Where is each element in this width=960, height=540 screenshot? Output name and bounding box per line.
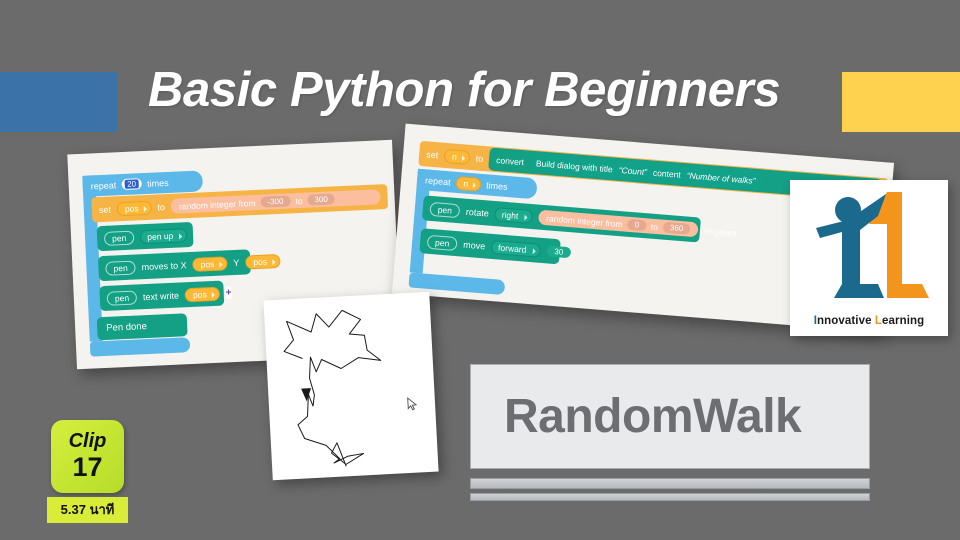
variable-dropdown-n[interactable]: n xyxy=(444,148,471,164)
random-max-input[interactable]: 360 xyxy=(663,222,691,235)
clip-duration-label: 5.37 นาที xyxy=(47,497,128,523)
dialog-title-value[interactable]: “Count” xyxy=(618,164,647,176)
pen-move-to-block[interactable]: pen moves to X pos Y pos xyxy=(98,249,251,281)
random-walk-drawing xyxy=(263,292,438,480)
random-integer-block[interactable]: random integer from -300 to 300 xyxy=(171,189,381,213)
accent-bar-right xyxy=(842,72,960,132)
pen-move-forward-block[interactable]: pen move forward 30 xyxy=(419,228,561,264)
pen-text-write-block[interactable]: pen text write pos + xyxy=(99,281,224,312)
variable-dropdown-pos[interactable]: pos xyxy=(117,200,152,216)
project-name-box: RandomWalk xyxy=(470,364,870,469)
dialog-content-value[interactable]: “Number of walks” xyxy=(686,170,756,185)
degrees-label: degrees xyxy=(704,225,737,238)
page-title: Basic Python for Beginners xyxy=(148,62,838,118)
dialog-content-label: content xyxy=(653,167,682,179)
repeat-label: repeat xyxy=(91,180,117,191)
random-to-label: to xyxy=(295,195,303,205)
pen-prefix-label: pen xyxy=(429,201,460,217)
pen-action-dropdown-pen-up[interactable]: pen up xyxy=(140,228,188,244)
project-name-label: RandomWalk xyxy=(504,389,801,444)
times-label: times xyxy=(147,177,169,188)
moves-to-x-label: moves to X xyxy=(141,260,186,272)
convert-label: convert xyxy=(496,155,525,167)
random-to-label: to xyxy=(651,221,659,232)
clip-number-label: 17 xyxy=(72,453,102,481)
pen-prefix-label: pen xyxy=(427,234,458,250)
set-label: set xyxy=(99,204,111,215)
text-write-label: text write xyxy=(143,290,179,302)
slide-canvas: Basic Python for Beginners repeat 20 tim… xyxy=(0,0,960,540)
build-dialog-label: Build dialog with title xyxy=(536,158,614,174)
y-axis-label: Y xyxy=(233,257,239,267)
pen-prefix-label: pen xyxy=(107,290,138,305)
pen-done-block[interactable]: Pen done xyxy=(97,313,188,340)
rotate-label: rotate xyxy=(466,206,490,218)
logo-caption: Innovative Learning xyxy=(790,315,948,327)
repeat-count-variable-n[interactable]: n xyxy=(455,175,482,191)
y-variable-pill[interactable]: pos xyxy=(245,253,280,269)
clip-word-label: Clip xyxy=(69,431,107,451)
times-label: times xyxy=(486,180,508,192)
pen-done-label: Pen done xyxy=(106,321,147,334)
brand-logo-card: Innovative Learning xyxy=(790,180,948,336)
pen-up-block[interactable]: pen pen up xyxy=(97,222,194,251)
random-integer-label: random integer from xyxy=(179,198,256,211)
turtle-output-canvas[interactable] xyxy=(263,292,438,480)
random-min-input[interactable]: 0 xyxy=(627,219,646,231)
random-min-input[interactable]: -300 xyxy=(260,195,290,207)
to-label: to xyxy=(475,153,483,164)
to-label: to xyxy=(157,202,165,212)
decorative-bar-2 xyxy=(470,493,870,501)
repeat-block-footer xyxy=(90,337,191,357)
build-dialog-block[interactable]: Build dialog with title “Count” content … xyxy=(529,153,762,191)
random-integer-label: random integer from xyxy=(546,213,623,229)
accent-bar-left xyxy=(0,72,118,132)
decorative-bar-1 xyxy=(470,478,870,489)
text-write-variable-pill[interactable]: pos xyxy=(185,286,220,302)
logo-caption-part1: nnovative xyxy=(817,315,875,327)
walk-polyline xyxy=(282,308,386,469)
x-variable-pill[interactable]: pos xyxy=(192,256,227,272)
repeat-count-input[interactable]: 20 xyxy=(121,178,142,190)
pen-prefix-label: pen xyxy=(104,230,135,245)
innovative-learning-logo-icon xyxy=(790,180,948,310)
mouse-pointer-icon xyxy=(407,397,419,412)
move-label: move xyxy=(463,239,486,251)
set-label: set xyxy=(426,149,439,160)
repeat-label: repeat xyxy=(425,175,451,187)
move-direction-dropdown[interactable]: forward xyxy=(491,239,541,257)
clip-badge: Clip 17 xyxy=(51,420,124,493)
logo-caption-part2: earning xyxy=(882,315,924,327)
rotate-direction-dropdown[interactable]: right xyxy=(494,207,533,224)
random-integer-block[interactable]: random integer from 0 to 360 xyxy=(538,210,699,238)
pen-prefix-label: pen xyxy=(105,260,136,275)
logo-caption-l: L xyxy=(875,315,882,327)
random-max-input[interactable]: 300 xyxy=(307,193,335,205)
move-distance-input[interactable]: 30 xyxy=(546,245,572,258)
add-argument-icon[interactable]: + xyxy=(225,286,231,299)
